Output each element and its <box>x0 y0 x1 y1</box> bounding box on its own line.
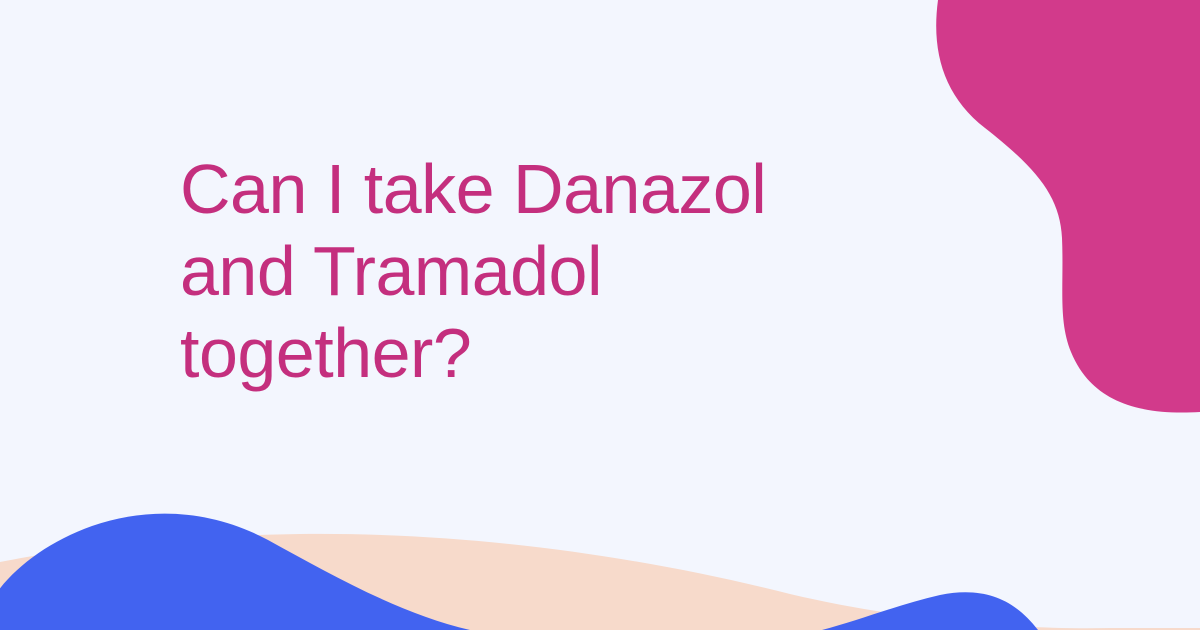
headline-container: Can I take Danazol and Tramadol together… <box>180 148 880 394</box>
blue-blob-bottom-right-icon <box>822 592 1038 630</box>
page-title: Can I take Danazol and Tramadol together… <box>180 148 880 394</box>
blue-blob-bottom-left-icon <box>0 514 470 630</box>
magenta-blob-top-right-icon <box>936 0 1200 413</box>
og-card: Can I take Danazol and Tramadol together… <box>0 0 1200 630</box>
peach-blob-bottom-icon <box>0 534 1200 630</box>
